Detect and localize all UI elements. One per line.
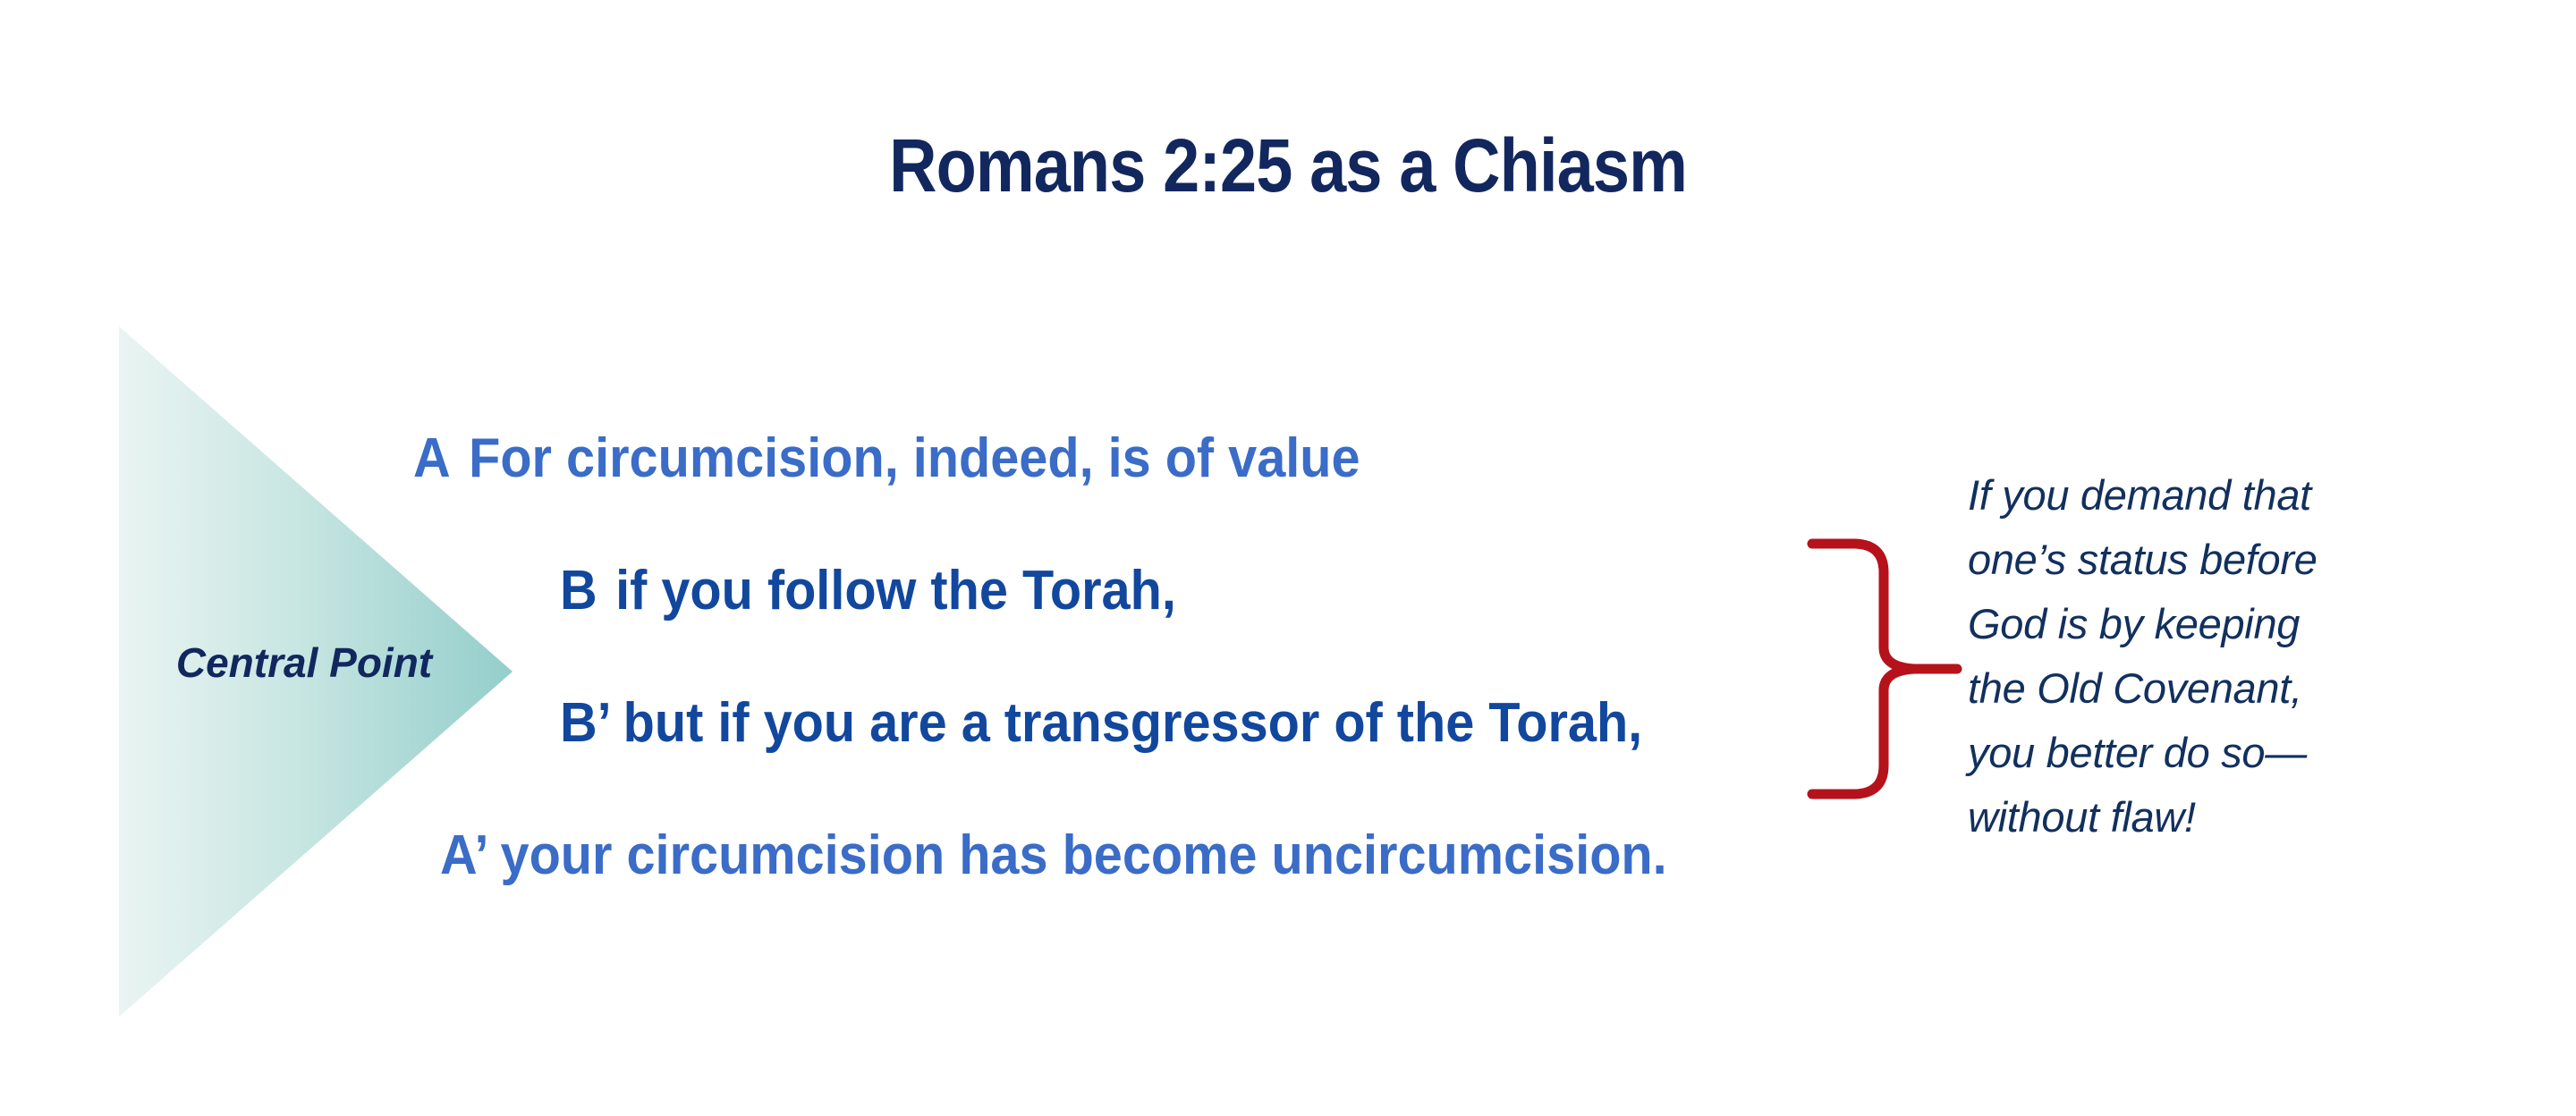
annotation-line: you better do so— (1968, 721, 2504, 785)
annotation-text: If you demand that one’s status before G… (1968, 463, 2504, 850)
chiasm-line-a-prime-text: your circumcision has become uncircumcis… (501, 828, 1667, 883)
page-title: Romans 2:25 as a Chiasm (155, 128, 2421, 203)
annotation-line: without flaw! (1968, 785, 2504, 850)
right-curly-brace-icon (1809, 537, 1961, 801)
annotation-line: one’s status before (1968, 528, 2504, 592)
chiasm-line-a-prime-label: A’ (440, 828, 488, 883)
chiasm-line-b-text: if you follow the Torah, (615, 563, 1176, 619)
chiasm-line-b-prime: B’but if you are a transgressor of the T… (560, 696, 1642, 751)
chiasm-line-a-text: For circumcision, indeed, is of value (469, 431, 1360, 486)
chiasm-line-a-label: A (413, 431, 451, 486)
chiasm-line-b-prime-text: but if you are a transgressor of the Tor… (623, 696, 1643, 751)
chiasm-line-b-label: B (560, 563, 597, 619)
chiasm-line-b-prime-label: B’ (560, 696, 612, 751)
chiasm-line-a-prime: A’your circumcision has become uncircumc… (440, 828, 1667, 883)
annotation-line: the Old Covenant, (1968, 656, 2504, 721)
annotation-line: If you demand that (1968, 463, 2504, 528)
chiasm-line-a: AFor circumcision, indeed, is of value (413, 431, 1360, 486)
slide-canvas: Romans 2:25 as a Chiasm Central Point AF… (0, 0, 2576, 1116)
chiasm-line-b: Bif you follow the Torah, (560, 563, 1176, 619)
annotation-line: God is by keeping (1968, 592, 2504, 656)
central-point-label: Central Point (125, 642, 483, 683)
